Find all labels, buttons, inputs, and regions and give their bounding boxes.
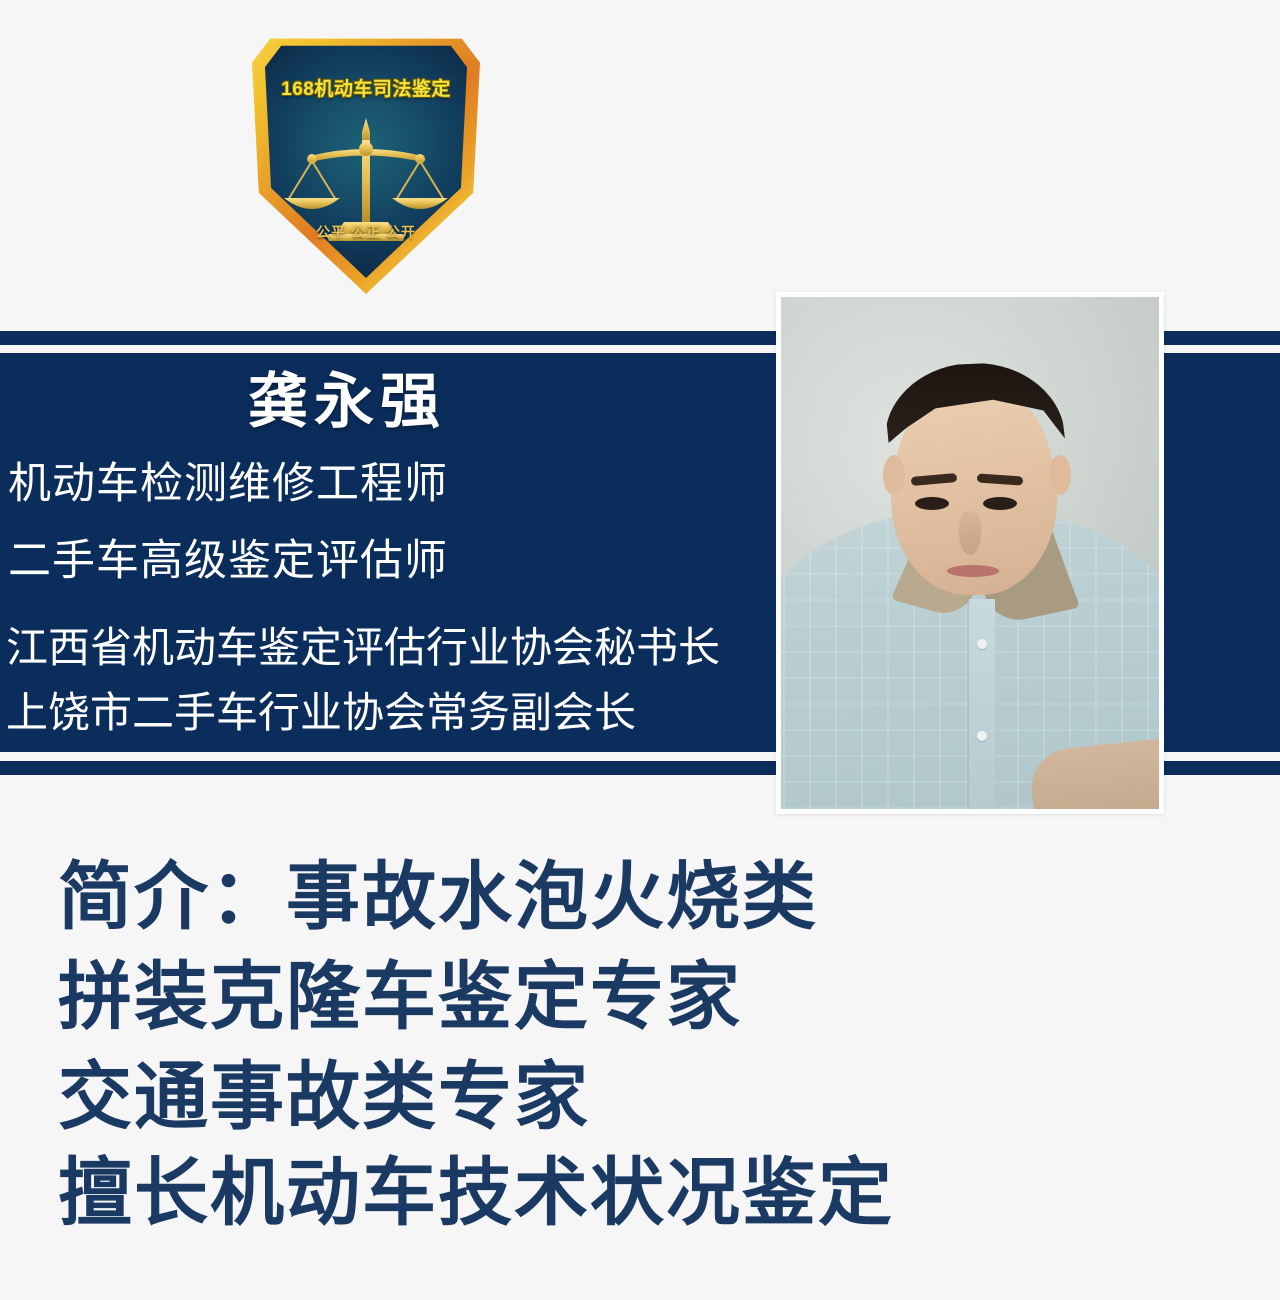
person-name: 龚永强 bbox=[248, 372, 446, 432]
portrait-photo bbox=[781, 297, 1159, 809]
portrait-photo-frame bbox=[776, 292, 1164, 814]
shield-title-text: 168机动车司法鉴定 bbox=[252, 74, 480, 101]
shield-motto-text: 公平 公正 公开 bbox=[252, 222, 480, 242]
credential-line-1: 机动车检测维修工程师 bbox=[8, 463, 448, 506]
ear-left bbox=[883, 455, 905, 495]
credential-line-2: 二手车高级鉴定评估师 bbox=[8, 540, 448, 583]
credential-line-3: 江西省机动车鉴定评估行业协会秘书长 bbox=[6, 627, 720, 669]
eye-right bbox=[983, 497, 1017, 510]
shirt-button-upper bbox=[977, 639, 987, 649]
shirt-button-lower bbox=[977, 731, 987, 741]
credential-line-4: 上饶市二手车行业协会常务副会长 bbox=[6, 692, 636, 734]
bio-line-1: 简介：事故水泡火烧类 bbox=[58, 860, 818, 934]
ear-right bbox=[1049, 455, 1071, 495]
bio-line-3: 交通事故类专家 bbox=[58, 1060, 590, 1134]
organization-logo: 168机动车司法鉴定 bbox=[252, 28, 480, 294]
nose bbox=[959, 511, 981, 555]
profile-card-page: 168机动车司法鉴定 bbox=[0, 0, 1280, 1300]
bio-line-4: 擅长机动车技术状况鉴定 bbox=[58, 1156, 894, 1230]
mouth bbox=[947, 565, 999, 577]
shirt-placket bbox=[969, 599, 995, 809]
bio-line-2: 拼装克隆车鉴定专家 bbox=[58, 960, 742, 1034]
eye-left bbox=[915, 497, 949, 510]
